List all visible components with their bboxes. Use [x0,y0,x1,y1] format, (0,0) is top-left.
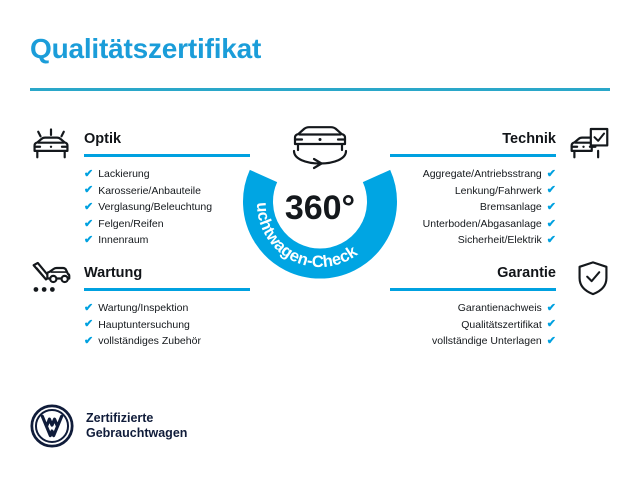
list-item: vollständige Unterlagen✔ [410,333,610,350]
checklist-garantie: Garantienachweis✔ Qualitätszertifikat✔ v… [410,300,610,350]
page-title: Qualitätszertifikat [30,33,261,65]
list-item: ✔Felgen/Reifen [30,216,230,233]
check-icon: ✔ [84,185,93,196]
section-title-technik: Technik [502,131,556,147]
list-item-label: vollständige Unterlagen [432,333,542,350]
check-icon: ✔ [84,202,93,213]
check-icon: ✔ [84,336,93,347]
list-item: ✔Innenraum [30,232,230,249]
list-item-label: Hauptuntersuchung [98,317,190,334]
section-header-wartung: Wartung [30,262,230,294]
list-item: ✔Karosserie/Anbauteile [30,183,230,200]
car-checkbox-icon [566,126,610,162]
list-item: ✔Lackierung [30,166,230,183]
check-icon: ✔ [547,303,556,314]
checklist-optik: ✔Lackierung ✔Karosserie/Anbauteile ✔Verg… [30,166,230,249]
vw-footer: Zertifizierte Gebrauchtwagen [30,404,187,448]
list-item-label: Aggregate/Antriebsstrang [423,166,542,183]
certificate-page: Qualitätszertifikat Optik ✔Lackierung ✔K… [0,0,640,480]
list-item-label: Sicherheit/Elektrik [458,232,542,249]
check-icon: ✔ [547,169,556,180]
shield-check-icon [566,260,610,296]
title-divider [30,88,610,91]
list-item: ✔vollständiges Zubehör [30,333,230,350]
list-item-label: Wartung/Inspektion [98,300,188,317]
list-item: Sicherheit/Elektrik✔ [410,232,610,249]
list-item: Qualitätszertifikat✔ [410,317,610,334]
badge-center-text: 360° [285,189,355,227]
list-item: ✔Hauptuntersuchung [30,317,230,334]
check-icon: ✔ [84,319,93,330]
section-title-garantie: Garantie [497,265,556,281]
section-divider-wartung [84,288,250,291]
checklist-wartung: ✔Wartung/Inspektion ✔Hauptuntersuchung ✔… [30,300,230,350]
check-icon: ✔ [84,219,93,230]
list-item-label: Karosserie/Anbauteile [98,183,201,200]
section-title-optik: Optik [84,131,121,147]
check-icon: ✔ [547,336,556,347]
section-technik: Technik Aggregate/Antriebsstrang✔ Lenkun… [410,128,610,249]
check-icon: ✔ [84,169,93,180]
list-item-label: Qualitätszertifikat [461,317,542,334]
check-icon: ✔ [547,185,556,196]
footer-text: Zertifizierte Gebrauchtwagen [86,411,187,442]
list-item-label: Unterboden/Abgasanlage [423,216,542,233]
list-item: Lenkung/Fahrwerk✔ [410,183,610,200]
section-header-garantie: Garantie [410,262,610,294]
list-item: Aggregate/Antriebsstrang✔ [410,166,610,183]
list-item-label: Innenraum [98,232,148,249]
section-divider-garantie [390,288,556,291]
section-garantie: Garantie Garantienachweis✔ Qualitätszert… [410,262,610,350]
check-icon: ✔ [547,219,556,230]
section-title-wartung: Wartung [84,265,142,281]
car-wrench-icon [30,260,74,296]
section-header-technik: Technik [410,128,610,160]
section-divider-optik [84,154,250,157]
list-item: Garantienachweis✔ [410,300,610,317]
list-item-label: Verglasung/Beleuchtung [98,199,212,216]
check-icon: ✔ [547,235,556,246]
list-item: Bremsanlage✔ [410,199,610,216]
section-optik: Optik ✔Lackierung ✔Karosserie/Anbauteile… [30,128,230,249]
list-item-label: Garantienachweis [458,300,542,317]
list-item-label: Lackierung [98,166,149,183]
section-divider-technik [390,154,556,157]
360-check-badge: Gebrauchtwagen-Check 360° [239,123,401,285]
list-item: ✔Wartung/Inspektion [30,300,230,317]
vw-roundel-logo [30,404,74,448]
checklist-technik: Aggregate/Antriebsstrang✔ Lenkung/Fahrwe… [410,166,610,249]
footer-line-1: Zertifizierte [86,411,187,427]
list-item-label: Felgen/Reifen [98,216,163,233]
check-icon: ✔ [547,319,556,330]
list-item-label: vollständiges Zubehör [98,333,201,350]
car-shine-icon [30,126,74,162]
car-rotate-icon [280,117,360,173]
check-icon: ✔ [547,202,556,213]
list-item-label: Lenkung/Fahrwerk [455,183,542,200]
list-item-label: Bremsanlage [480,199,542,216]
check-icon: ✔ [84,235,93,246]
list-item: ✔Verglasung/Beleuchtung [30,199,230,216]
list-item: Unterboden/Abgasanlage✔ [410,216,610,233]
check-icon: ✔ [84,303,93,314]
section-header-optik: Optik [30,128,230,160]
footer-line-2: Gebrauchtwagen [86,426,187,442]
section-wartung: Wartung ✔Wartung/Inspektion ✔Hauptunters… [30,262,230,350]
